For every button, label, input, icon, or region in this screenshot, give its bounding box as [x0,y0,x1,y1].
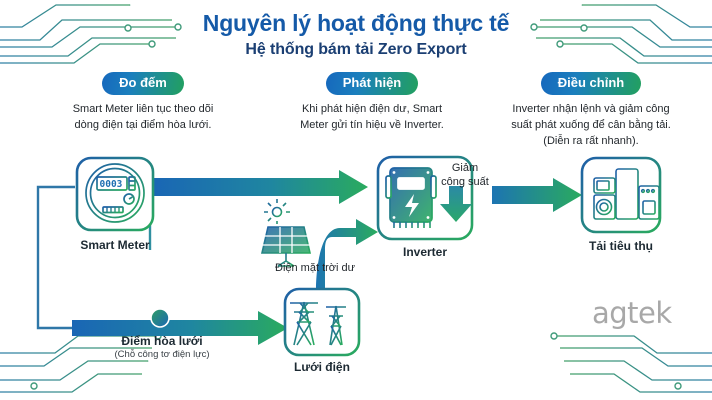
annotation-reduce-power-line1: Giảm [420,162,510,174]
node-label-smart-meter: Smart Meter [60,238,170,252]
junction-node-icon [151,309,169,327]
node-label-inverter: Inverter [375,245,475,259]
step-column-adjust: Điều chỉnh Inverter nhận lệnh và giảm cô… [470,72,712,149]
connector-meter-to-gridtie [38,187,75,328]
electric-meter-icon [86,164,144,222]
annotation-reduce-power-line2: công suất [420,176,510,188]
step-text-line: (Diễn ra rất nhanh). [470,134,712,150]
node-label-load: Tải tiêu thụ [566,239,676,253]
svg-text:0003: 0003 [100,179,123,190]
step-text-line: Khi phát hiện điện dư, Smart [247,102,497,118]
step-text-adjust: Inverter nhận lệnh và giảm công suất phá… [470,102,712,149]
arrow-solar-to-inverter [316,219,378,288]
tile-grid [285,289,359,355]
step-text-line: dòng điện tại điểm hòa lưới. [18,118,268,134]
down-arrow-icon [440,186,472,222]
step-column-detect: Phát hiện Khi phát hiện điện dư, Smart M… [247,72,497,134]
step-badge-adjust: Điều chỉnh [541,72,641,95]
step-badge-detect: Phát hiện [326,72,419,95]
tile-load [582,158,660,232]
transmission-tower-icon [290,302,346,345]
node-label-solar: Điện mặt trời dư [240,262,390,274]
step-badge-measure: Đo đếm [102,72,184,95]
step-text-line: Meter gửi tín hiệu về Inverter. [247,118,497,134]
step-text-line: Smart Meter liên tục theo dõi [18,102,268,118]
step-text-detect: Khi phát hiện điện dư, Smart Meter gửi t… [247,102,497,133]
meter-display-value: 0003 [100,179,123,190]
step-column-measure: Đo đếm Smart Meter liên tục theo dõi dòn… [18,72,268,134]
node-label-grid: Lưới điện [272,360,372,374]
infographic-canvas: Nguyên lý hoạt động thực tế Hệ thống bám… [0,0,712,400]
step-text-line: Inverter nhận lệnh và giảm công [470,102,712,118]
tile-smart-meter [77,158,153,230]
node-label-grid-tie: Điểm hòa lưới [90,334,234,348]
step-text-measure: Smart Meter liên tục theo dõi dòng điện … [18,102,268,133]
solar-panel-icon [262,199,310,266]
step-text-line: suất phát xuống để cân bằng tải. [470,118,712,134]
node-sublabel-grid-tie: (Chỗ công tơ điện lực) [90,349,234,360]
arrow-meter-to-inverter [152,170,368,204]
page-subtitle: Hệ thống bám tải Zero Export [0,41,712,59]
page-title: Nguyên lý hoạt động thực tế [0,10,712,37]
home-appliances-icon [594,169,659,219]
agtek-logo: agtek [592,296,672,330]
